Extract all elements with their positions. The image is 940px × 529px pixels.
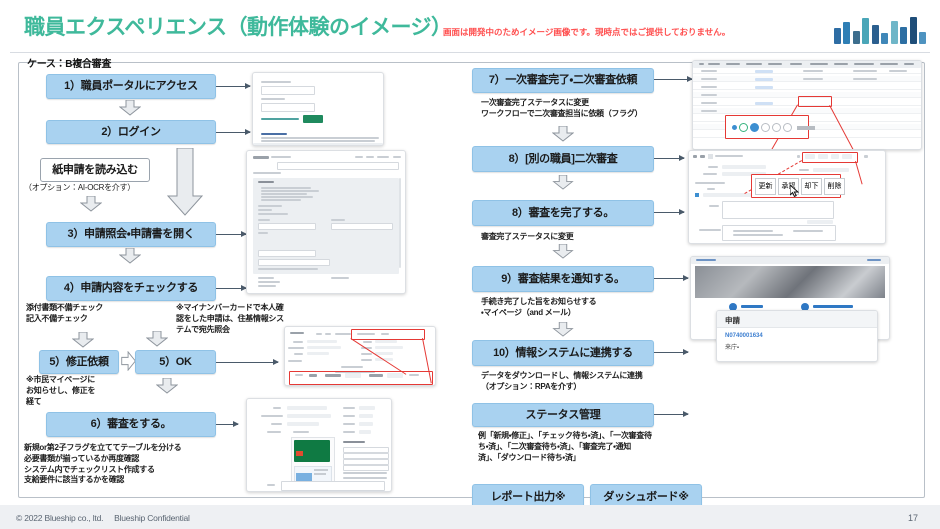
flow-step-4[interactable]: 4）申請内容をチェックする [46, 276, 216, 301]
flow-step-2[interactable]: 2）ログイン [46, 120, 216, 144]
flow-step-paper[interactable]: 紙申請を読み込む [40, 158, 150, 182]
step7-note: 一次審査完了ステータスに変更 ワークフローで二次審査担当に依頼（フラグ） [481, 98, 681, 120]
down-arrow-r1 [552, 126, 574, 142]
flow-step-6[interactable]: 6）審査をする。 [46, 412, 216, 437]
connector-step9 [654, 278, 688, 279]
check-note: 添付書類不備チェック 記入不備チェック [26, 303, 156, 325]
approval-screen-thumbnail[interactable]: 更新 承認 却下 削除 [688, 150, 886, 244]
blueship-bars-logo [834, 14, 926, 44]
flow-step-status[interactable]: ステータス管理 [472, 403, 654, 427]
approval-button-update[interactable]: 更新 [755, 178, 776, 195]
flow-step-1[interactable]: 1）職員ポータルにアクセス [46, 74, 216, 99]
down-arrow-r4 [552, 322, 574, 337]
connector-step1 [216, 86, 250, 87]
approval-buttons-callout: 更新 承認 却下 削除 [751, 174, 841, 198]
down-arrow-6 [156, 378, 178, 394]
connector-step8a [654, 158, 684, 159]
status-circle-active-icon [750, 123, 759, 132]
footer-confidential: Blueship Confidential [114, 513, 190, 523]
down-arrow-paper [80, 196, 102, 212]
down-arrow-r3 [552, 244, 574, 259]
down-arrow-long [167, 148, 203, 216]
step8b-note: 審査完了ステータスに変更 [481, 232, 681, 243]
fix-note: ※市民マイページに お知らせし、修正を 経て [26, 375, 146, 407]
step9-note: 手続き完了した旨をお知らせする ・マイページ（and メール） [481, 297, 681, 319]
status-circle-pending-icon-2 [772, 123, 781, 132]
paper-note: （オプション：AI-OCRを介す） [24, 183, 174, 194]
down-arrow-2 [119, 248, 141, 264]
flow-step-3[interactable]: 3）申請照会・申請書を開く [46, 222, 216, 247]
connector-step3 [216, 234, 246, 235]
approval-button-reject[interactable]: 却下 [801, 178, 822, 195]
login-screen-thumbnail[interactable] [252, 72, 384, 146]
down-arrow-r2 [552, 175, 574, 190]
footer-text: © 2022 Blueship co., ltd. Blueship Confi… [16, 513, 190, 523]
application-panel-overlay[interactable]: 申請 N0740001634 来庁・ [716, 310, 878, 362]
connector-step8b [654, 212, 684, 213]
application-list-table-thumbnail[interactable] [692, 60, 922, 150]
case-label: ケース：B複合審査 [27, 55, 111, 70]
status-circle-pending-icon-1 [761, 123, 770, 132]
down-arrow-4 [146, 331, 168, 347]
status-circle-done-icon [739, 123, 748, 132]
panel-link[interactable]: N0740001634 [725, 333, 763, 339]
header-divider [10, 52, 930, 53]
mouse-cursor-icon [790, 185, 799, 197]
status-note: 例「新規・修正」、「チェック待ち・済」、「一次審査待 ち・済」、「二次審査待ち・… [478, 431, 678, 463]
connector-step10 [654, 352, 688, 353]
connector-step7 [654, 79, 692, 80]
portal-hero-photo [695, 266, 885, 298]
flow-step-10[interactable]: 10）情報システムに連携する [472, 340, 654, 366]
connector-step5 [216, 362, 278, 363]
slide-root: 職員エクスペリエンス（動作体験のイメージ） 画面は開発中のためイメージ画像です。… [0, 0, 940, 529]
red-callout-top [351, 329, 425, 340]
application-form-thumbnail[interactable] [246, 150, 406, 294]
connector-status [654, 414, 688, 415]
connector-step2 [216, 132, 250, 133]
application-detail-thumbnail[interactable] [284, 326, 436, 386]
flow-step-8a[interactable]: 8）[別の職員]二次審査 [472, 146, 654, 172]
down-arrow-3 [72, 332, 94, 348]
flow-step-8b[interactable]: 8）審査を完了する。 [472, 200, 654, 226]
page-number: 17 [908, 513, 918, 523]
checklist-screen-thumbnail[interactable] [246, 398, 392, 492]
panel-title: 申請 [725, 315, 740, 326]
approval-button-delete[interactable]: 削除 [824, 178, 845, 195]
status-dot-icon [732, 125, 737, 130]
status-circle-pending-icon-3 [783, 123, 792, 132]
disclaimer-text: 画面は開発中のためイメージ画像です。現時点ではご提供しておりません。 [443, 26, 730, 38]
flow-step-5a[interactable]: 5）修正依頼 [39, 350, 119, 374]
step10-note: データをダウンロードし、情報システムに連携 （オプション：RPAを介す） [481, 371, 685, 393]
panel-sub: 来庁・ [725, 342, 739, 351]
down-arrow-1 [119, 100, 141, 116]
page-title: 職員エクスペリエンス（動作体験のイメージ） [24, 11, 452, 41]
flow-step-5b[interactable]: 5）OK [135, 350, 216, 374]
flow-step-7[interactable]: 7）一次審査完了・二次審査依頼 [472, 68, 654, 93]
footer-copyright: © 2022 Blueship co., ltd. [16, 513, 103, 523]
review-note: 新規or第2子フラグを立ててテーブルを分ける 必要書類が揃っているか再度確認 シ… [24, 443, 234, 486]
status-circles-callout [725, 115, 809, 139]
red-callout-row [798, 96, 832, 107]
red-callout-actions [802, 152, 858, 163]
flow-step-9[interactable]: 9）審査結果を通知する。 [472, 266, 654, 292]
connector-step6 [216, 424, 238, 425]
connector-step4 [216, 288, 246, 289]
